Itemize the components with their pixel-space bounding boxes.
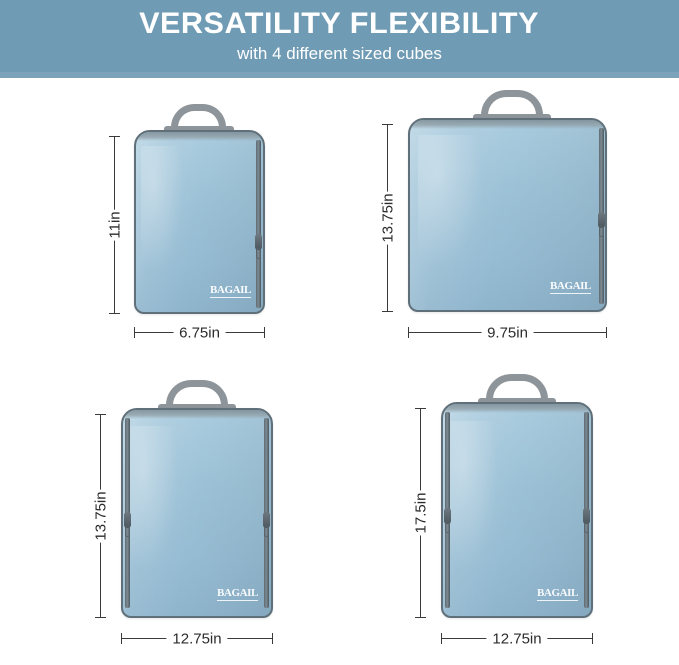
dimension-height-label: 13.75in: [88, 489, 113, 542]
product-medium: BAGAIL 13.75in 9.75in: [340, 78, 679, 370]
dim-cap-right: [592, 633, 593, 644]
banner-title: VERSATILITY FLEXIBILITY: [140, 7, 540, 41]
dimension-height-label: 11in: [102, 209, 127, 240]
dim-cap-left: [121, 633, 122, 644]
dim-cap-bottom: [415, 617, 426, 618]
dimension-height-label: 17.5in: [408, 491, 433, 536]
banner-subtitle: with 4 different sized cubes: [237, 43, 442, 65]
dim-cap-left: [408, 327, 409, 338]
product-xlarge: BAGAIL 17.5in 12.75in: [340, 370, 679, 665]
dimension-width-label: 12.75in: [486, 630, 547, 647]
zipper-pull-left: [124, 512, 131, 528]
zipper-pull-right: [263, 512, 270, 528]
product-cell-small: BAGAIL 11in 6.75in: [0, 78, 339, 370]
packing-cube-body: BAGAIL: [121, 408, 273, 618]
product-cell-large: BAGAIL 13.75in 12.75in: [0, 370, 339, 665]
dimension-width-xlarge: 12.75in: [441, 638, 593, 639]
dimension-width-label: 6.75in: [173, 324, 226, 341]
dimension-width-medium: 9.75in: [408, 332, 607, 333]
dimension-height-large: 13.75in: [100, 414, 101, 618]
product-large: BAGAIL 13.75in 12.75in: [0, 370, 339, 665]
dim-cap-right: [264, 327, 265, 338]
product-small: BAGAIL 11in 6.75in: [0, 78, 339, 370]
packing-cube-body: BAGAIL: [408, 118, 607, 312]
dim-cap-left: [441, 633, 442, 644]
dimension-width-label: 9.75in: [481, 324, 534, 341]
brand-logo: BAGAIL: [550, 281, 591, 292]
product-cell-xlarge: BAGAIL 17.5in 12.75in: [340, 370, 679, 665]
zipper-pull-left: [444, 508, 451, 524]
brand-logo: BAGAIL: [537, 588, 578, 599]
dim-cap-top: [382, 124, 393, 125]
product-cell-medium: BAGAIL 13.75in 9.75in: [340, 78, 679, 370]
dim-cap-right: [272, 633, 273, 644]
header-banner: VERSATILITY FLEXIBILITY with 4 different…: [0, 0, 679, 78]
dim-cap-bottom: [95, 617, 106, 618]
product-grid: BAGAIL 11in 6.75in BAGAIL: [0, 78, 679, 665]
brand-logo: BAGAIL: [210, 285, 251, 296]
zipper-pull-right: [255, 234, 262, 250]
dimension-height-medium: 13.75in: [387, 124, 388, 312]
packing-cube-body: BAGAIL: [134, 130, 265, 314]
packing-cube-body: BAGAIL: [441, 402, 593, 618]
zipper-pull-right: [583, 508, 590, 524]
dimension-width-small: 6.75in: [134, 332, 265, 333]
dimension-width-label: 12.75in: [166, 630, 227, 647]
dim-cap-bottom: [109, 313, 120, 314]
dimension-height-small: 11in: [114, 136, 115, 314]
dim-cap-left: [134, 327, 135, 338]
dim-cap-top: [415, 408, 426, 409]
dim-cap-top: [95, 414, 106, 415]
dim-cap-right: [606, 327, 607, 338]
dim-cap-bottom: [382, 311, 393, 312]
zipper-pull-right: [598, 212, 605, 228]
brand-logo: BAGAIL: [217, 588, 258, 599]
dim-cap-top: [109, 136, 120, 137]
zipper-right: [256, 140, 261, 308]
dimension-height-xlarge: 17.5in: [420, 408, 421, 618]
dimension-height-label: 13.75in: [375, 191, 400, 244]
dimension-width-large: 12.75in: [121, 638, 273, 639]
